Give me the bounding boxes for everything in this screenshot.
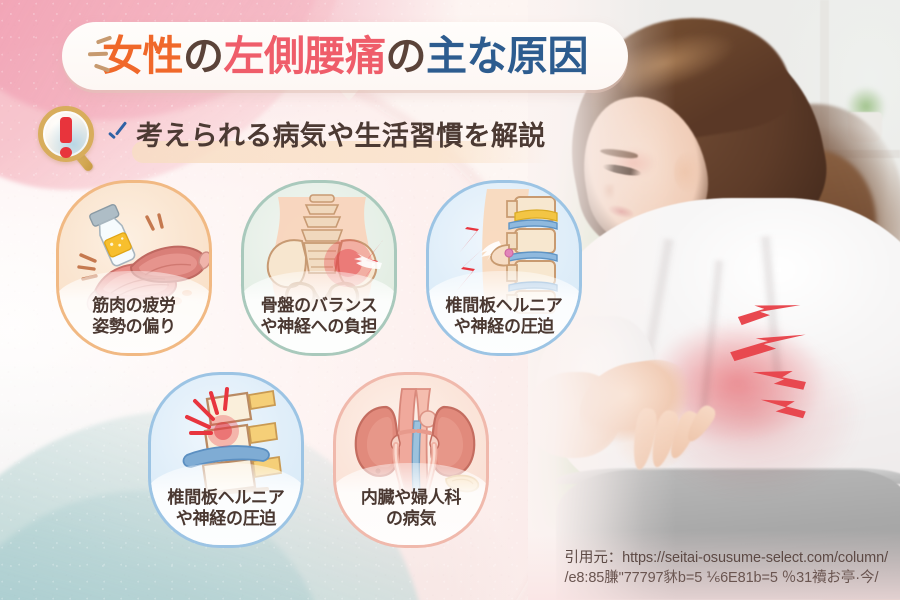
card-label-line1: 椎間板ヘルニア [168,488,285,507]
cause-card-muscle-fatigue[interactable]: 筋肉の疲労 姿勢の偏り [56,180,212,356]
cause-card-pelvis-balance[interactable]: 骨盤のバランス や神経への負担 [241,180,397,356]
title-segment-brown-2: の [386,33,427,79]
card-label: 筋肉の疲労 姿勢の偏り [59,295,209,337]
card-label: 椎間板ヘルニア や神経の圧迫 [151,487,301,529]
exclamation-bar-icon [60,117,72,143]
title-segment-brown-1: の [183,33,224,79]
title-segment-navy: 主な原因 [426,33,588,79]
card-label-line2: の病気 [386,509,436,528]
sparkle-flicks-icon [86,34,116,80]
title-bubble: 女性の左側腰痛の主な原因 [62,22,628,90]
card-label-line1: 椎間板ヘルニア [446,296,563,315]
card-label-line2: や神経への負担 [261,317,378,336]
card-label-line2: や神経の圧迫 [176,509,276,528]
citation: 引用元：https://seitai-osusume-select.com/co… [565,549,888,588]
flick-line [88,52,108,57]
flick-line [96,35,112,44]
ear [674,152,702,192]
card-label: 骨盤のバランス や神経への負担 [244,295,394,337]
flick-line [94,63,110,72]
woman-back-pain-photo [528,0,900,600]
cause-card-herniated-disc-nerve-2[interactable]: 椎間板ヘルニア や神経の圧迫 [148,372,304,548]
page-title: 女性の左側腰痛の主な原因 [102,36,588,77]
card-label-line1: 骨盤のバランス [261,296,378,315]
check-icon [106,125,128,147]
pain-lightning-bolt-icon [743,364,813,397]
card-label-line2: や神経の圧迫 [454,317,554,336]
card-label: 椎間板ヘルニア や神経の圧迫 [429,295,579,337]
card-label-line1: 筋肉の疲労 [92,296,176,315]
card-label-line1: 内臓や婦人科 [361,488,461,507]
infographic-canvas: 女性の左側腰痛の主な原因 考えられる病気や生活習慣を解説 [0,0,900,600]
card-label-line2: 姿勢の偏り [92,317,176,336]
title-segment-red: 左側腰痛 [224,33,386,79]
card-label: 内臓や婦人科 の病気 [336,487,486,529]
citation-line-1: 引用元：https://seitai-osusume-select.com/co… [565,549,888,568]
subtitle-wrap: 考えられる病気や生活習慣を解説 [136,122,546,150]
citation-line-2: /e8:85膁"77797䝗b=5 ⅙6E81b=5 ％31襩お亭·今/ [565,569,888,588]
exclamation-dot-icon [60,147,72,158]
cause-card-herniated-disc-nerve[interactable]: 椎間板ヘルニア や神経の圧迫 [426,180,582,356]
pain-lightning-bolt-icon [729,299,804,332]
pain-lightning-bolt-icon [723,329,810,366]
subtitle-row: 考えられる病気や生活習慣を解説 [36,104,546,168]
magnifier-exclamation-icon [36,104,100,168]
subtitle-text: 考えられる病気や生活習慣を解説 [136,122,546,150]
cause-card-organ-gynecological[interactable]: 内臓や婦人科 の病気 [333,372,489,548]
